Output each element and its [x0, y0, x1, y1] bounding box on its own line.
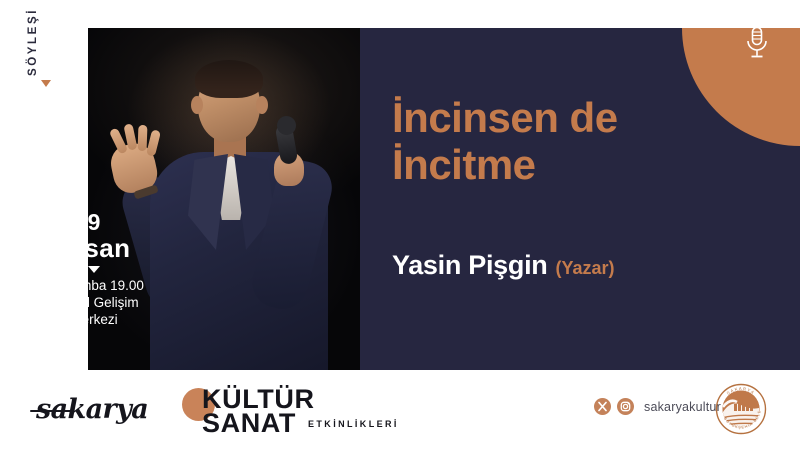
date-weekday-time: Çarşamba 19.00: [44, 277, 144, 294]
speaker-info: Yasin Pişgin (Yazar): [392, 250, 615, 281]
brand-tagline: ETKİNLİKLERİ: [308, 419, 399, 429]
social-handle: sakaryakultur: [644, 400, 721, 414]
event-title-line-2: İncitme: [392, 141, 782, 188]
date-badge: 9 Nisan Çarşamba 19.00 Sosyal Gelişim Me…: [20, 196, 168, 344]
x-icon[interactable]: [594, 398, 611, 415]
event-title: İncinsen de İncitme: [392, 94, 782, 188]
brand-script-text: sakarya: [36, 394, 148, 425]
category-label: SÖYLEŞİ: [5, 0, 61, 85]
social-links[interactable]: sakaryakultur: [594, 398, 721, 415]
event-title-line-1: İncinsen de: [392, 94, 782, 141]
speaker-name: Yasin Pişgin: [392, 250, 547, 281]
municipality-seal-logo: SAKARYA BÜYÜKŞEHİR BELEDİYESİ: [714, 382, 768, 436]
venue-line-2: Merkezi: [44, 311, 144, 328]
speaker-role: (Yazar): [555, 258, 614, 279]
category-triangle-icon: [41, 80, 51, 87]
instagram-icon[interactable]: [617, 398, 634, 415]
venue-line-1: Sosyal Gelişim: [44, 294, 144, 311]
date-month: Nisan: [58, 235, 131, 262]
microphone-icon: [744, 26, 770, 60]
brand-logo: sakarya KÜLTÜR SANAT ETKİNLİKLERİ: [30, 382, 375, 444]
brand-word-sanat: SANAT: [202, 408, 296, 439]
date-separator-icon: [88, 266, 100, 273]
event-poster: SÖYLEŞİ: [0, 0, 800, 457]
date-day: 9: [88, 211, 101, 234]
